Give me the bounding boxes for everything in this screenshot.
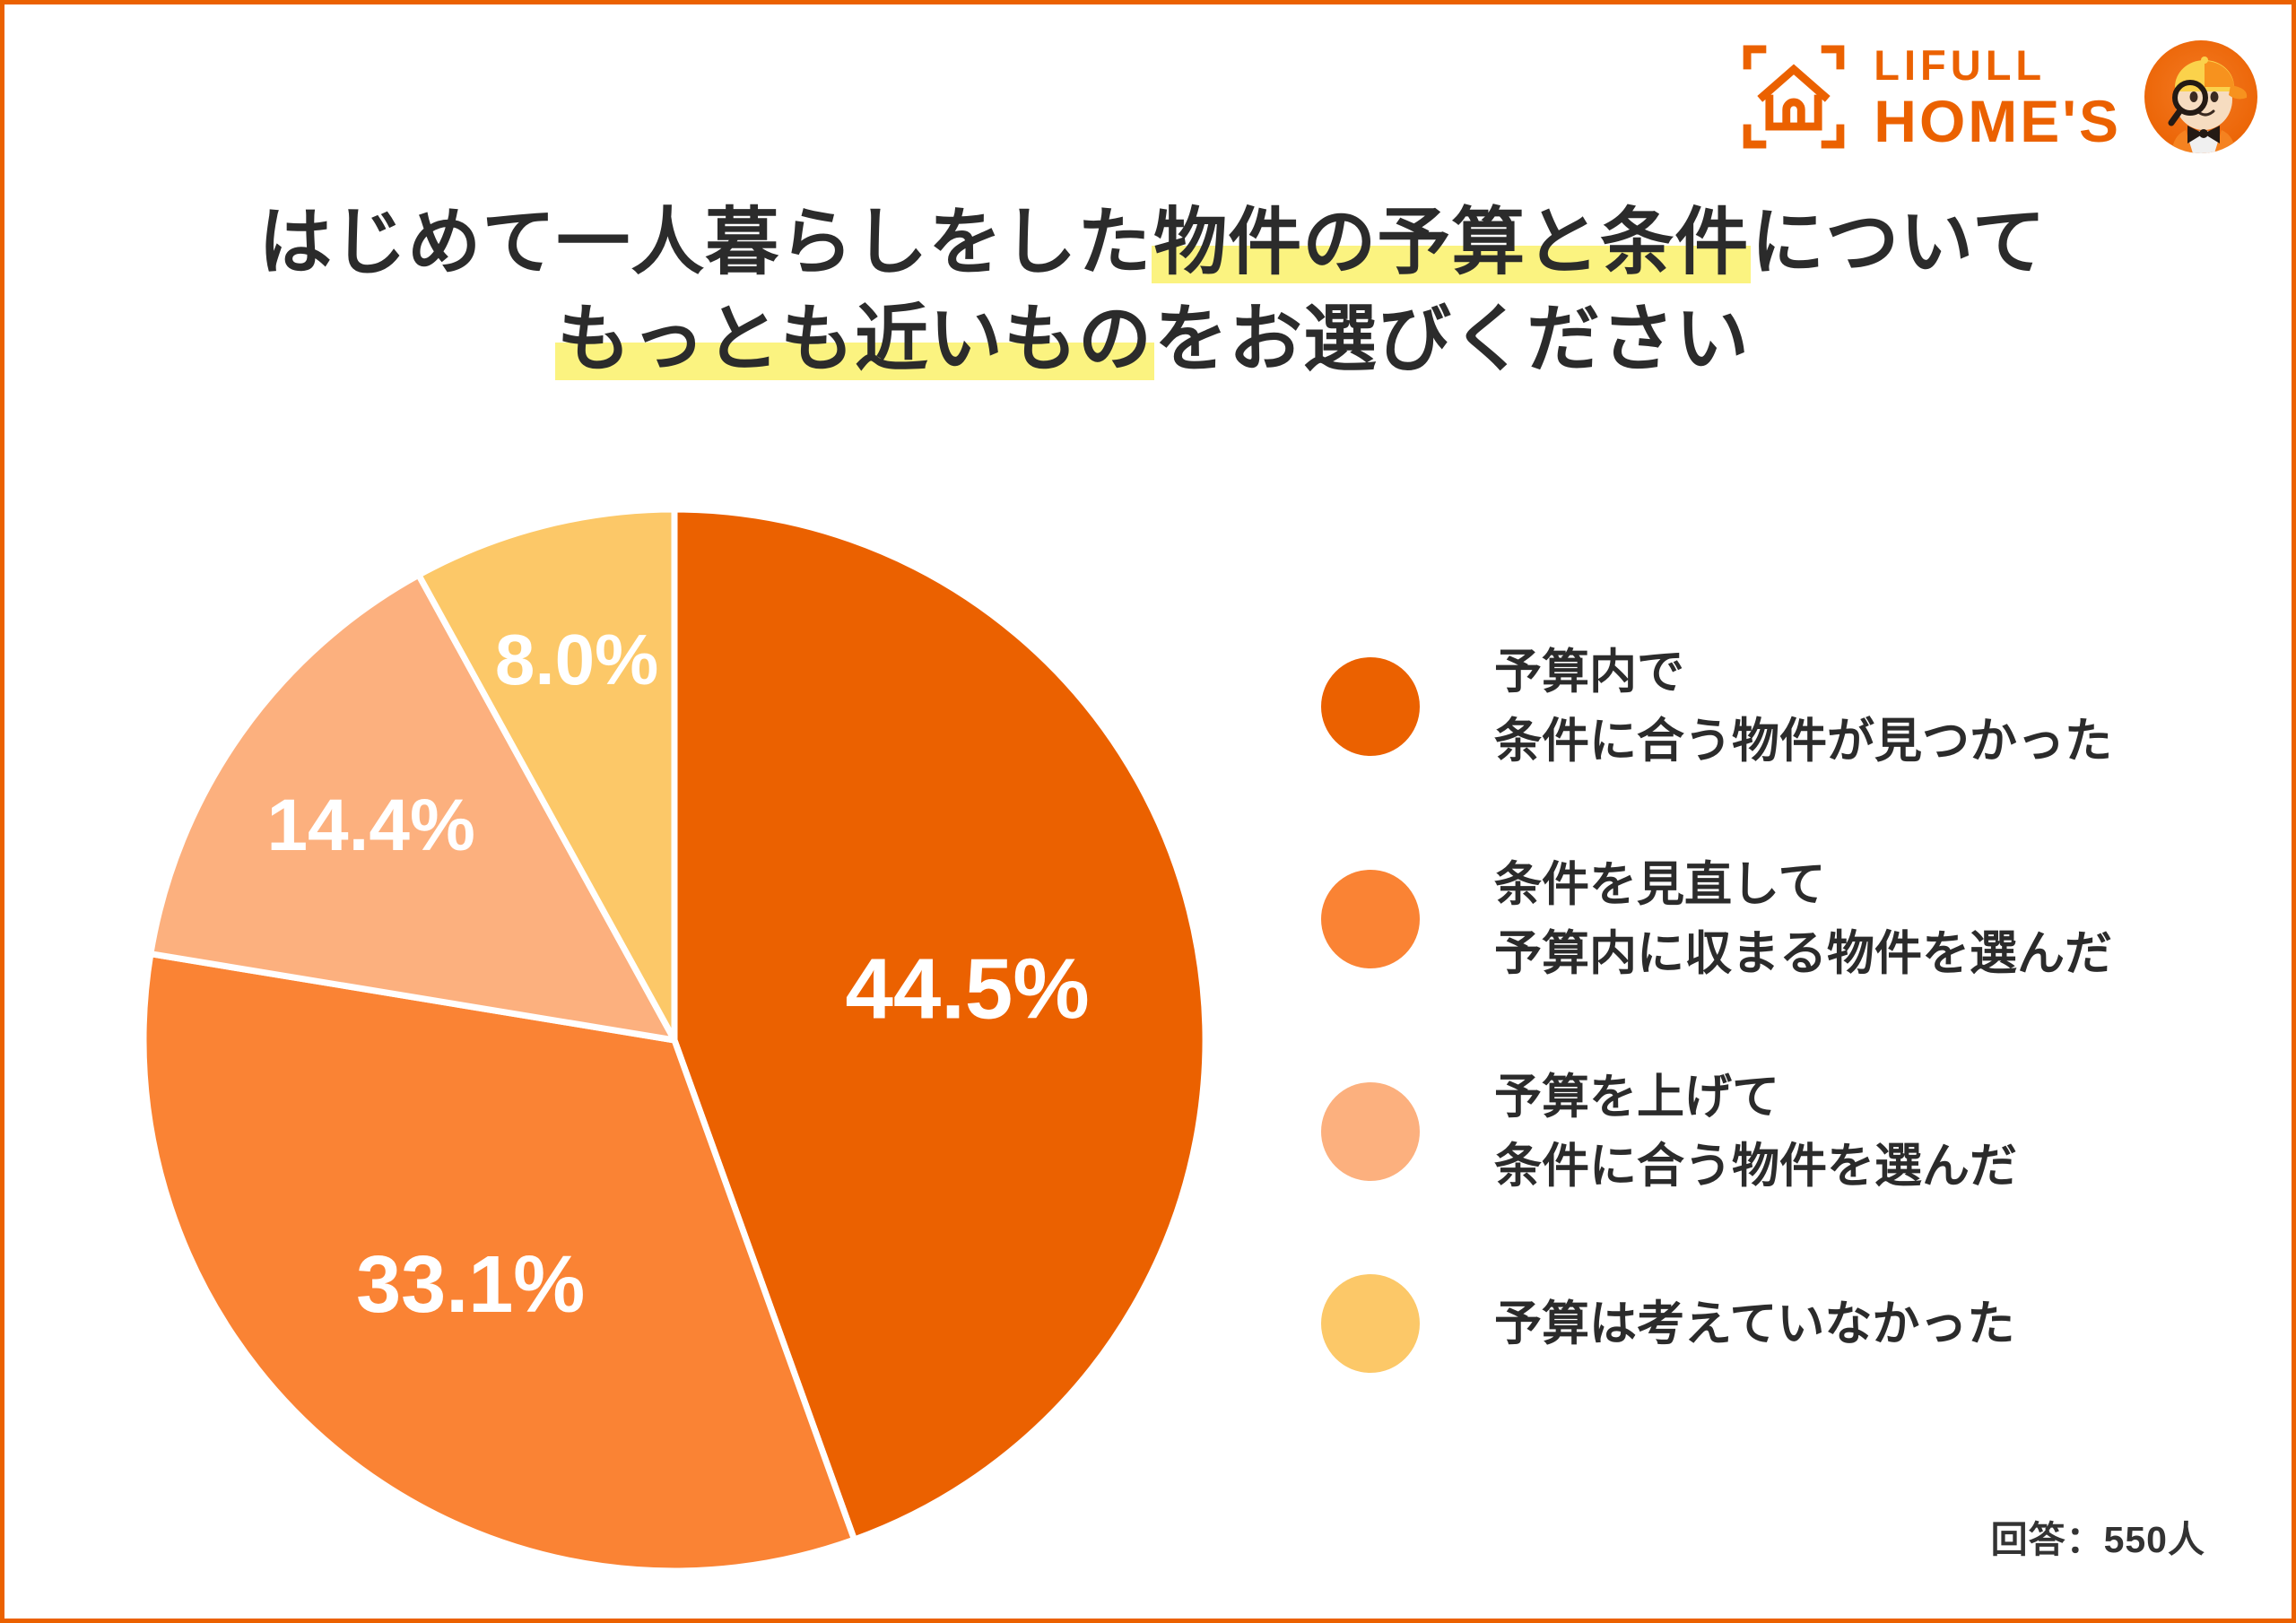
pie-chart-svg: 44.5%33.1%14.4%8.0% (141, 507, 1208, 1574)
legend-swatch-icon-1 (1321, 870, 1420, 968)
legend-label-2-line1: 予算を上げて (1494, 1071, 1779, 1124)
brand-name-lifull: LIFULL (1874, 44, 2121, 86)
title-line2-post: をお選びください (1154, 299, 1750, 380)
title-line1-pre: はじめて一人暮らしをした (258, 202, 1152, 283)
legend-item-2[interactable]: 予算を上げて 条件に合う物件を選んだ (1321, 1063, 2218, 1202)
legend-label-3: 予算は考えていなかった (1494, 1289, 2014, 1358)
pie-slice-label-3: 8.0% (495, 620, 658, 699)
page-title: はじめて一人暮らしをした物件の予算と条件について もっとも近いものをお選びくださ… (4, 195, 2296, 388)
legend-swatch-icon-3 (1321, 1274, 1420, 1373)
legend-label-1-line1: 条件を見直して (1494, 858, 1825, 911)
title-line1-highlight: 物件の予算と条件 (1152, 202, 1751, 283)
lifull-homes-lockup: LIFULL HOME'S (1741, 44, 2121, 151)
brand-logo: LIFULL HOME'S (1741, 40, 2257, 153)
legend-label-0-line2: 条件に合う物件が見つかった (1494, 715, 2112, 768)
legend-item-1[interactable]: 条件を見直して 予算内に収まる物件を選んだ (1321, 850, 2218, 989)
legend-label-1-line2: 予算内に収まる物件を選んだ (1494, 927, 2112, 980)
pie-slice-label-2: 14.4% (266, 785, 475, 866)
legend-label-2-line2: 条件に合う物件を選んだ (1494, 1140, 2017, 1193)
pie-slice-label-0: 44.5% (845, 942, 1089, 1037)
chart-legend: 予算内で 条件に合う物件が見つかった 条件を見直して 予算内に収まる物件を選んだ… (1321, 638, 2218, 1373)
legend-label-0-line1: 予算内で (1494, 646, 1684, 699)
legend-swatch-icon-2 (1321, 1082, 1420, 1181)
infographic-canvas: LIFULL HOME'S (0, 0, 2296, 1623)
pie-chart: 44.5%33.1%14.4%8.0% (141, 507, 1208, 1574)
pie-slice-group (143, 509, 1205, 1571)
legend-label-1: 条件を見直して 予算内に収まる物件を選んだ (1494, 850, 2112, 989)
pie-slice-label-1: 33.1% (356, 1240, 585, 1330)
legend-label-3-line1: 予算は考えていなかった (1494, 1298, 2014, 1350)
brand-name-homes: HOME'S (1874, 91, 2121, 151)
legend-label-2: 予算を上げて 条件に合う物件を選んだ (1494, 1063, 2017, 1202)
title-line-2: もっとも近いものをお選びください (4, 291, 2296, 388)
legend-item-3[interactable]: 予算は考えていなかった (1321, 1274, 2218, 1373)
legend-swatch-icon-0 (1321, 657, 1420, 756)
title-line-1: はじめて一人暮らしをした物件の予算と条件について (4, 195, 2296, 291)
legend-label-0: 予算内で 条件に合う物件が見つかった (1494, 638, 2112, 777)
mascot-avatar-icon (2144, 40, 2257, 153)
legend-item-0[interactable]: 予算内で 条件に合う物件が見つかった (1321, 638, 2218, 777)
respondents-note: 回答：550人 (1991, 1509, 2205, 1563)
house-bracket-icon (1741, 44, 1847, 150)
title-line2-highlight: もっとも近いもの (555, 299, 1154, 380)
brand-wordmark: LIFULL HOME'S (1874, 44, 2121, 151)
title-line1-post: について (1751, 202, 2047, 283)
